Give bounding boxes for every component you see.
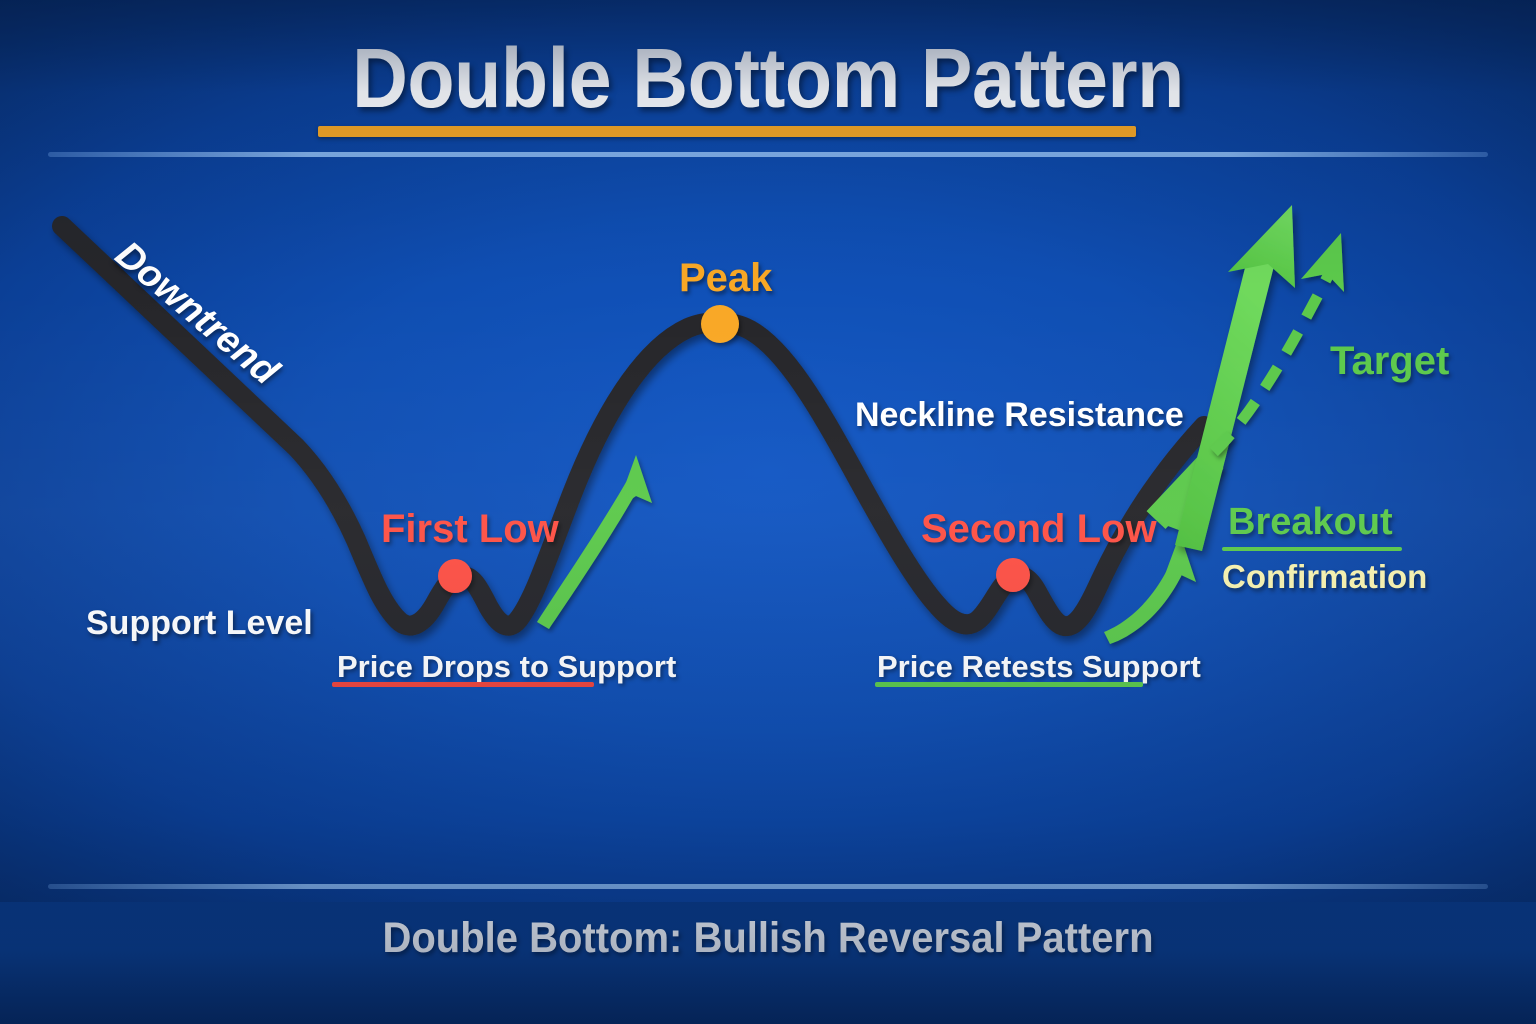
peak-marker bbox=[701, 305, 739, 343]
footer-caption: Double Bottom: Bullish Reversal Pattern bbox=[54, 914, 1482, 963]
label-first-low: First Low bbox=[381, 509, 559, 549]
label-price-retests-support: Price Retests Support bbox=[877, 651, 1201, 682]
page-title: Double Bottom Pattern bbox=[61, 36, 1474, 120]
price-drops-underline bbox=[332, 682, 594, 687]
divider-top bbox=[48, 152, 1488, 157]
price-retests-underline bbox=[875, 682, 1143, 687]
label-confirmation: Confirmation bbox=[1222, 560, 1427, 593]
breakout-underline bbox=[1222, 547, 1402, 551]
label-support-level: Support Level bbox=[86, 606, 313, 640]
infographic-canvas: Double Bottom Pattern Downtrend Peak Nec… bbox=[0, 0, 1536, 1024]
divider-bottom bbox=[48, 884, 1488, 889]
label-breakout: Breakout bbox=[1228, 503, 1393, 541]
first-low-marker bbox=[438, 559, 472, 593]
label-target: Target bbox=[1330, 341, 1449, 381]
label-second-low: Second Low bbox=[921, 509, 1157, 549]
label-peak: Peak bbox=[679, 258, 772, 298]
title-underline bbox=[318, 126, 1136, 137]
second-low-marker bbox=[996, 558, 1030, 592]
label-neckline-resistance: Neckline Resistance bbox=[855, 398, 1184, 432]
label-price-drops-to-support: Price Drops to Support bbox=[337, 651, 676, 682]
